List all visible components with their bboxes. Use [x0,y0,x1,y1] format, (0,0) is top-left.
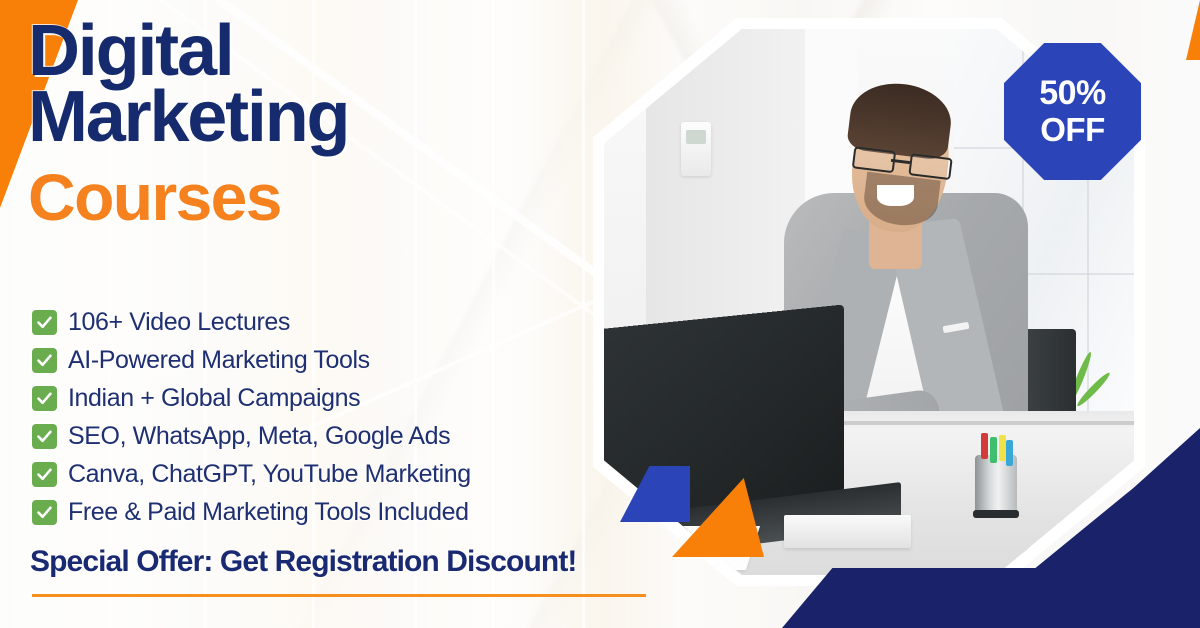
feature-item: Free & Paid Marketing Tools Included [32,493,632,531]
check-square-icon [32,424,57,449]
special-offer-text: Special Offer: Get Registration Discount… [30,545,577,579]
feature-label: SEO, WhatsApp, Meta, Google Ads [68,422,450,451]
feature-item: SEO, WhatsApp, Meta, Google Ads [32,417,632,455]
feature-item: AI-Powered Marketing Tools [32,341,632,379]
headline-line-2: Marketing [28,84,588,150]
feature-item: 106+ Video Lectures [32,303,632,341]
photo-pen-cup [975,455,1017,513]
discount-badge[interactable]: 50% OFF [1004,43,1141,180]
feature-label: Free & Paid Marketing Tools Included [68,498,469,527]
decor-navy-bar-bottom [782,568,1200,628]
check-square-icon [32,348,57,373]
offer-underline-rule [32,594,646,597]
photo-notebook [784,515,911,548]
discount-badge-percent: 50% [1039,75,1106,112]
check-square-icon [32,500,57,525]
headline-line-1: Digital [28,18,588,84]
marketing-banner: 50% OFF Digital Marketing Courses 106+ V… [0,0,1200,628]
feature-label: 106+ Video Lectures [68,308,290,337]
feature-label: Canva, ChatGPT, YouTube Marketing [68,460,471,489]
feature-label: AI-Powered Marketing Tools [68,346,370,375]
check-square-icon [32,462,57,487]
discount-badge-label: OFF [1040,112,1104,148]
feature-item: Indian + Global Campaigns [32,379,632,417]
check-square-icon [32,386,57,411]
photo-thermostat [681,122,711,176]
page-title: Digital Marketing Courses [28,18,588,230]
feature-list: 106+ Video LecturesAI-Powered Marketing … [32,303,632,531]
feature-label: Indian + Global Campaigns [68,384,360,413]
headline-line-3: Courses [28,164,588,230]
photo-person-smile [877,185,914,207]
feature-item: Canva, ChatGPT, YouTube Marketing [32,455,632,493]
check-square-icon [32,310,57,335]
